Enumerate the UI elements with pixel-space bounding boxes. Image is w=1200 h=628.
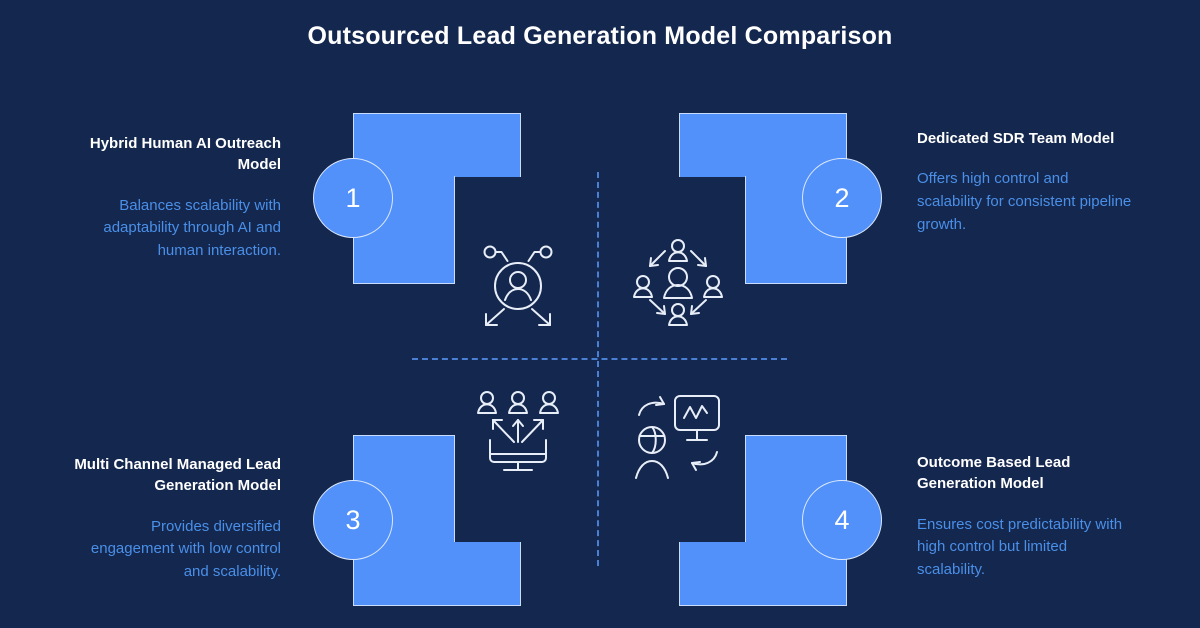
quadrant-2-number-badge[interactable]: 2 bbox=[802, 158, 882, 238]
quadrant-2-description: Offers high control and scalability for … bbox=[917, 168, 1132, 236]
quadrant-1-heading: Hybrid Human AI Outreach Model bbox=[66, 133, 281, 176]
divider-horizontal bbox=[412, 358, 787, 360]
quadrant-3-text-block: Multi Channel Managed Lead Generation Mo… bbox=[66, 454, 281, 584]
team-collaboration-circle-icon bbox=[633, 237, 723, 327]
quadrant-3-heading: Multi Channel Managed Lead Generation Mo… bbox=[66, 454, 281, 497]
person-network-expansion-icon bbox=[473, 237, 563, 327]
quadrant-3-number: 3 bbox=[345, 505, 360, 536]
quadrant-4-number: 4 bbox=[834, 505, 849, 536]
divider-vertical bbox=[597, 172, 599, 566]
quadrant-4-text-block: Outcome Based Lead Generation Model Ensu… bbox=[917, 452, 1132, 582]
quadrant-1-number-badge[interactable]: 1 bbox=[313, 158, 393, 238]
infographic-canvas: Outsourced Lead Generation Model Compari… bbox=[0, 0, 1200, 628]
quadrant-2-heading: Dedicated SDR Team Model bbox=[917, 128, 1132, 149]
quadrant-4-heading: Outcome Based Lead Generation Model bbox=[917, 452, 1132, 495]
person-analytics-cycle-icon bbox=[633, 390, 723, 480]
quadrant-3-shape-bar bbox=[353, 542, 521, 606]
quadrant-4-number-badge[interactable]: 4 bbox=[802, 480, 882, 560]
monitor-multichannel-outreach-icon bbox=[473, 390, 563, 480]
page-title: Outsourced Lead Generation Model Compari… bbox=[0, 22, 1200, 51]
quadrant-1-text-block: Hybrid Human AI Outreach Model Balances … bbox=[66, 133, 281, 263]
quadrant-3-number-badge[interactable]: 3 bbox=[313, 480, 393, 560]
quadrant-1-number: 1 bbox=[345, 183, 360, 214]
quadrant-3-description: Provides diversified engagement with low… bbox=[66, 516, 281, 584]
quadrant-4-description: Ensures cost predictability with high co… bbox=[917, 514, 1132, 582]
quadrant-1-description: Balances scalability with adaptability t… bbox=[66, 195, 281, 263]
quadrant-2-number: 2 bbox=[834, 183, 849, 214]
quadrant-2-text-block: Dedicated SDR Team Model Offers high con… bbox=[917, 128, 1132, 237]
